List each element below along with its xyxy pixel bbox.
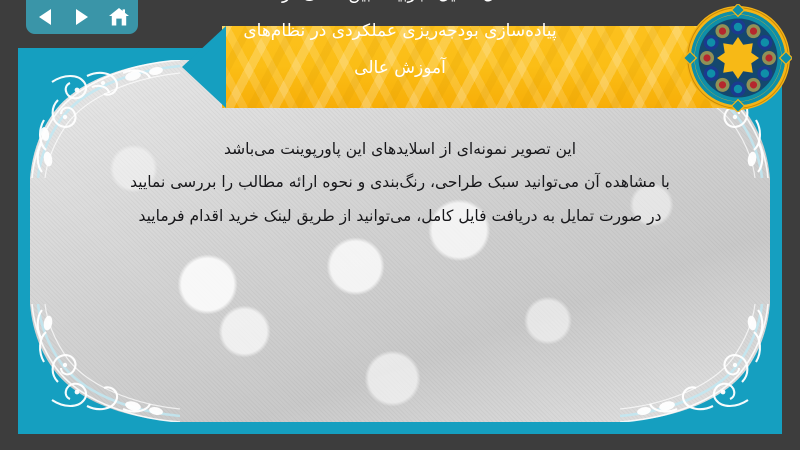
arabesque-corner-ornament-bottom-left: [30, 304, 180, 422]
slide-body-text: این تصویر نمونه‌ای از اسلایدهای این پاور…: [70, 138, 730, 238]
home-icon: [108, 7, 130, 27]
body-line-1: این تصویر نمونه‌ای از اسلایدهای این پاور…: [70, 138, 730, 160]
forward-button[interactable]: [69, 5, 95, 29]
slide-canvas: این تصویر نمونه‌ای از اسلایدهای این پاور…: [30, 60, 770, 422]
triangle-left-icon: [37, 8, 53, 26]
arabesque-corner-ornament-bottom-right: [620, 304, 770, 422]
body-line-2: با مشاهده آن می‌توانید سبک طراحی، رنگ‌بن…: [70, 171, 730, 193]
triangle-right-icon: [74, 8, 90, 26]
body-line-3: در صورت تمایل به دریافت فایل کامل، می‌تو…: [70, 205, 730, 227]
slide-viewer: این تصویر نمونه‌ای از اسلایدهای این پاور…: [0, 0, 800, 450]
islamic-medallion-ornament: [684, 4, 792, 112]
title-banner: [222, 26, 728, 108]
home-button[interactable]: [106, 5, 132, 29]
navigation-bar: [26, 0, 138, 34]
back-button[interactable]: [32, 5, 58, 29]
